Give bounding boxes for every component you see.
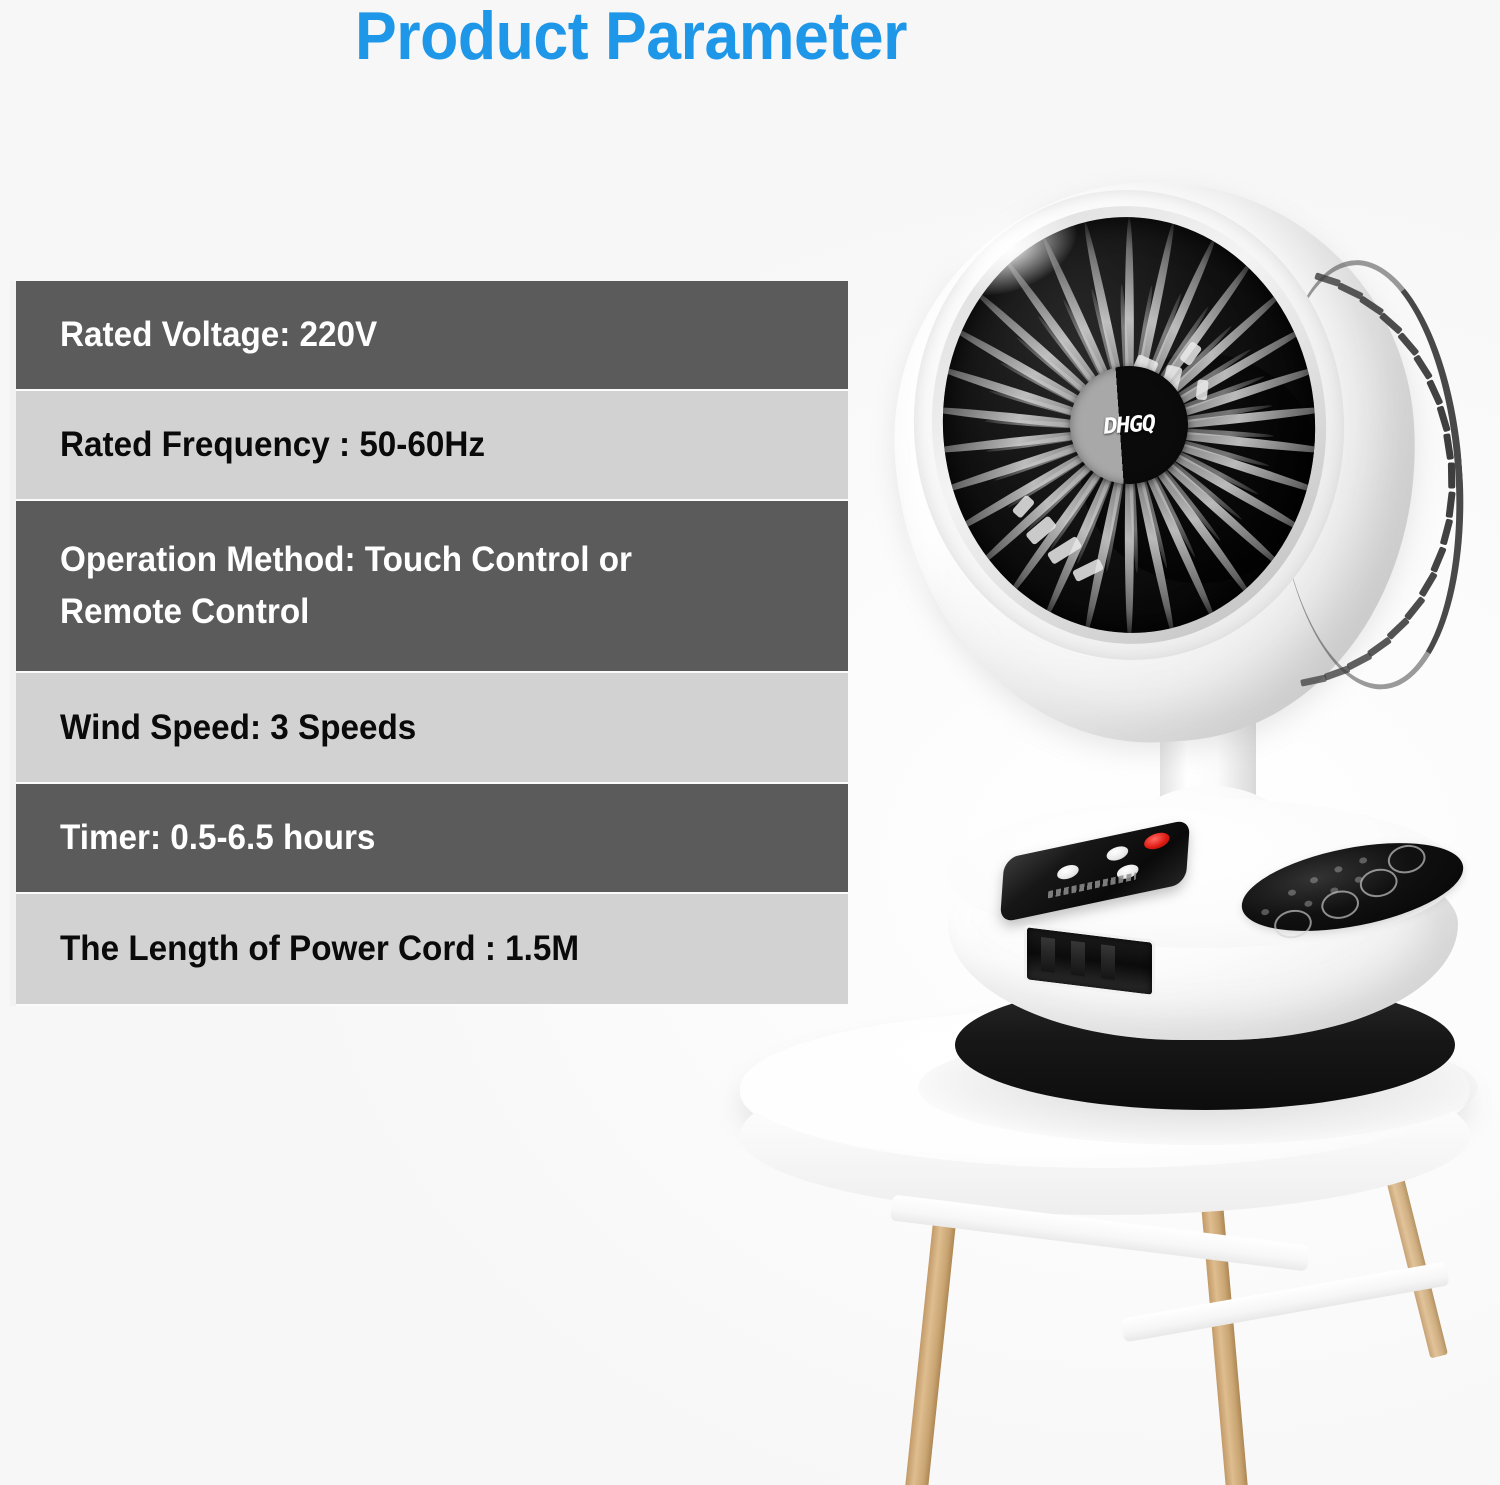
product-parameter-image: Product Parameter Rated Voltage: 220V Ra… [0, 0, 1500, 1485]
indicator-dot-icon [1261, 908, 1270, 915]
remote-button-icon [1106, 844, 1128, 862]
brand-logo: DHGQ [1102, 411, 1156, 440]
indicator-dot-icon [1304, 900, 1313, 907]
spec-row-timer: Timer: 0.5-6.5 hours [60, 812, 375, 864]
display-segment [1041, 937, 1055, 973]
remote-button-icon [1057, 863, 1079, 881]
ratchet-tooth [1324, 665, 1351, 680]
display-segment [1071, 941, 1085, 977]
page-title: Product Parameter [355, 0, 1036, 79]
speed-button-icon [1319, 887, 1362, 922]
spec-row-rated-voltage: Rated Voltage: 220V [60, 309, 377, 361]
table-brace [1120, 1262, 1449, 1343]
power-icon [1144, 831, 1171, 852]
spec-row-rated-frequency: Rated Frequency : 50-60Hz [60, 419, 485, 471]
spec-row-operation-method: Operation Method: Touch Control or Remot… [60, 534, 632, 638]
grille-gap [1196, 379, 1209, 400]
spec-row-wind-speed: Wind Speed: 3 Speeds [60, 702, 416, 754]
indicator-dot-icon [1287, 889, 1296, 896]
display-segment [1101, 944, 1115, 980]
spec-row-power-cord-length: The Length of Power Cord : 1.5M [60, 923, 579, 975]
indicator-dot-icon [1359, 857, 1368, 864]
indicator-dot-icon [1310, 877, 1319, 884]
indicator-dot-icon [1334, 866, 1343, 873]
ratchet-tooth [1448, 462, 1455, 488]
product-photo-circulator-fan: DHGQ [700, 150, 1500, 1485]
